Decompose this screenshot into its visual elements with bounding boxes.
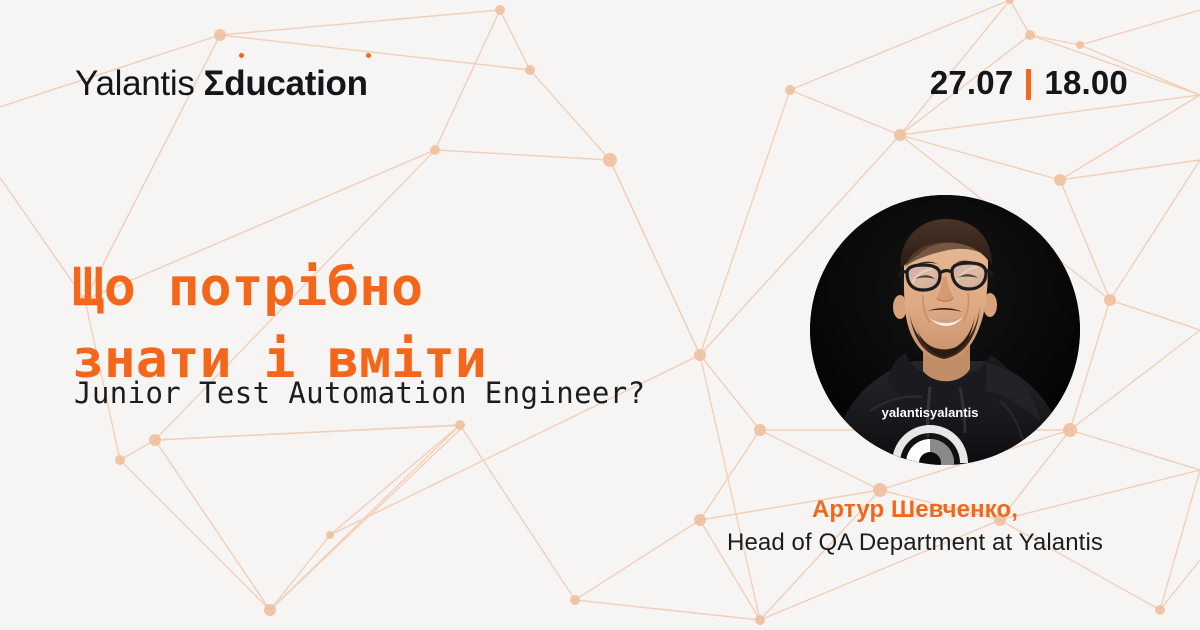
speaker-avatar: yalantisyalantis [810,195,1080,465]
webinar-announcement-banner: YalantisΣducation 27.07 18.00 Що потрібн… [0,0,1200,630]
headline-line-1: Що потрібно [72,252,487,324]
logo-word-education: Σducation [204,64,368,103]
hoodie-logo-text: yalantisyalantis [882,405,979,420]
speaker-role: Head of QA Department at Yalantis [690,526,1140,559]
logo-dot-accent-1 [238,63,244,69]
page-subtitle: Junior Test Automation Engineer? [74,374,646,412]
event-datetime: 27.07 18.00 [930,62,1128,104]
speaker-name: Артур Шевченко, [690,494,1140,525]
datetime-separator [1026,69,1031,100]
event-date: 27.07 [930,62,1014,104]
logo-word-yalantis: Yalantis [75,64,195,103]
event-time: 18.00 [1044,62,1128,104]
logo-dot-accent-2 [365,63,371,69]
speaker-caption: Артур Шевченко, Head of QA Department at… [690,494,1140,559]
speaker-photo-illustration: yalantisyalantis [810,195,1080,465]
yalantis-education-logo[interactable]: YalantisΣducation [75,63,368,105]
